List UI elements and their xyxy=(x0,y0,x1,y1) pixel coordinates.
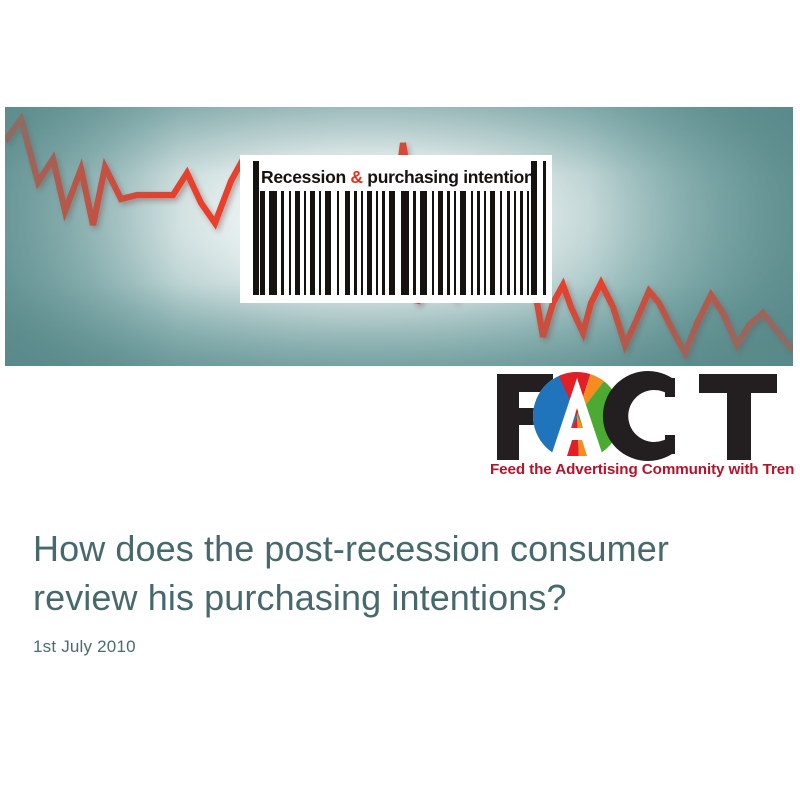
fact-logo: Feed the Advertising Community with Tren… xyxy=(479,368,795,480)
page-title: How does the post-recession consumer rev… xyxy=(33,524,753,622)
barcode-title-suffix: purchasing intention xyxy=(363,167,535,187)
barcode-bars xyxy=(252,191,542,295)
page-title-line-1: How does the post-recession consumer xyxy=(33,528,669,569)
logo-tagline: Feed the Advertising Community with Tren… xyxy=(490,461,795,478)
presentation-date: 1st July 2010 xyxy=(33,636,753,658)
headline-block: How does the post-recession consumer rev… xyxy=(33,524,753,658)
logo-letter-c xyxy=(597,368,689,461)
barcode-graphic: Recession & purchasing intention xyxy=(240,155,552,303)
trend-line-left xyxy=(5,119,245,225)
barcode-title: Recession & purchasing intention xyxy=(261,165,537,190)
fact-logo-artwork: Feed the Advertising Community with Tren… xyxy=(479,368,795,480)
barcode-guard-bar-outer xyxy=(543,161,546,295)
slide-canvas: Recession & purchasing intention xyxy=(0,0,800,800)
barcode-title-ampersand: & xyxy=(350,167,362,187)
page-title-line-2: review his purchasing intentions? xyxy=(33,577,567,618)
barcode-guard-bar-right xyxy=(531,161,537,295)
barcode-title-prefix: Recession xyxy=(261,167,350,187)
logo-letter-t xyxy=(699,374,777,460)
